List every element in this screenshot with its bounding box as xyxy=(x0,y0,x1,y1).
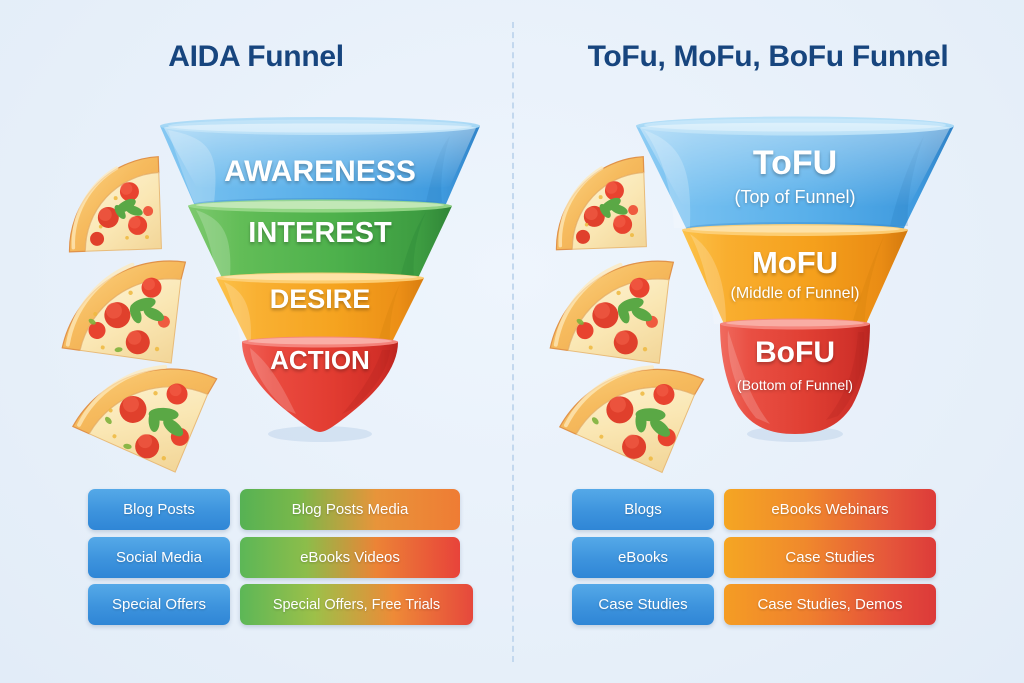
chip-label: Special Offers xyxy=(112,596,206,613)
chip-label: Blog Posts xyxy=(123,501,195,518)
chip-label: Case Studies xyxy=(598,596,687,613)
panel-divider xyxy=(512,22,514,662)
right-legend-chip-ebooks[interactable]: eBooks xyxy=(572,537,714,578)
chip-label: eBooks Webinars xyxy=(771,501,888,518)
chip-label: Case Studies, Demos xyxy=(757,596,902,613)
right-panel-title: ToFu, MoFu, BoFu Funnel xyxy=(512,40,1024,74)
left-panel-title: AIDA Funnel xyxy=(0,40,512,74)
left-legend-chip-special-offers-free-trials[interactable]: Special Offers, Free Trials xyxy=(240,584,473,625)
right-legend-chip-case-studies[interactable]: Case Studies xyxy=(572,584,714,625)
right-legend-chip-case-studies-demos[interactable]: Case Studies, Demos xyxy=(724,584,936,625)
left-legend-chip-social-media[interactable]: Social Media xyxy=(88,537,230,578)
aida-funnel: AWARENESS INTEREST DESIRE ACTION xyxy=(150,112,490,442)
chip-label: eBooks xyxy=(618,549,668,566)
chip-label: Special Offers, Free Trials xyxy=(273,597,440,613)
chip-label: Blog Posts Media xyxy=(292,501,409,518)
right-legend-chip-case-studies[interactable]: Case Studies xyxy=(724,537,936,578)
left-legend-chip-blog-posts[interactable]: Blog Posts xyxy=(88,489,230,530)
tofu-mofu-bofu-funnel: ToFU (Top of Funnel) MoFU (Middle of Fun… xyxy=(628,112,962,442)
infographic-canvas: AIDA Funnel ToFu, MoFu, BoFu Funnel xyxy=(0,0,1024,683)
chip-label: Case Studies xyxy=(785,549,874,566)
chip-label: Social Media xyxy=(116,549,202,566)
chip-label: Blogs xyxy=(624,501,662,518)
left-legend-chip-blogposts-media[interactable]: Blog Posts Media xyxy=(240,489,460,530)
right-legend-chip-ebooks-webinars[interactable]: eBooks Webinars xyxy=(724,489,936,530)
left-legend-chip-ebooks-videos[interactable]: eBooks Videos xyxy=(240,537,460,578)
chip-label: eBooks Videos xyxy=(300,549,400,566)
left-legend-chip-special-offers[interactable]: Special Offers xyxy=(88,584,230,625)
right-legend-chip-blogs[interactable]: Blogs xyxy=(572,489,714,530)
